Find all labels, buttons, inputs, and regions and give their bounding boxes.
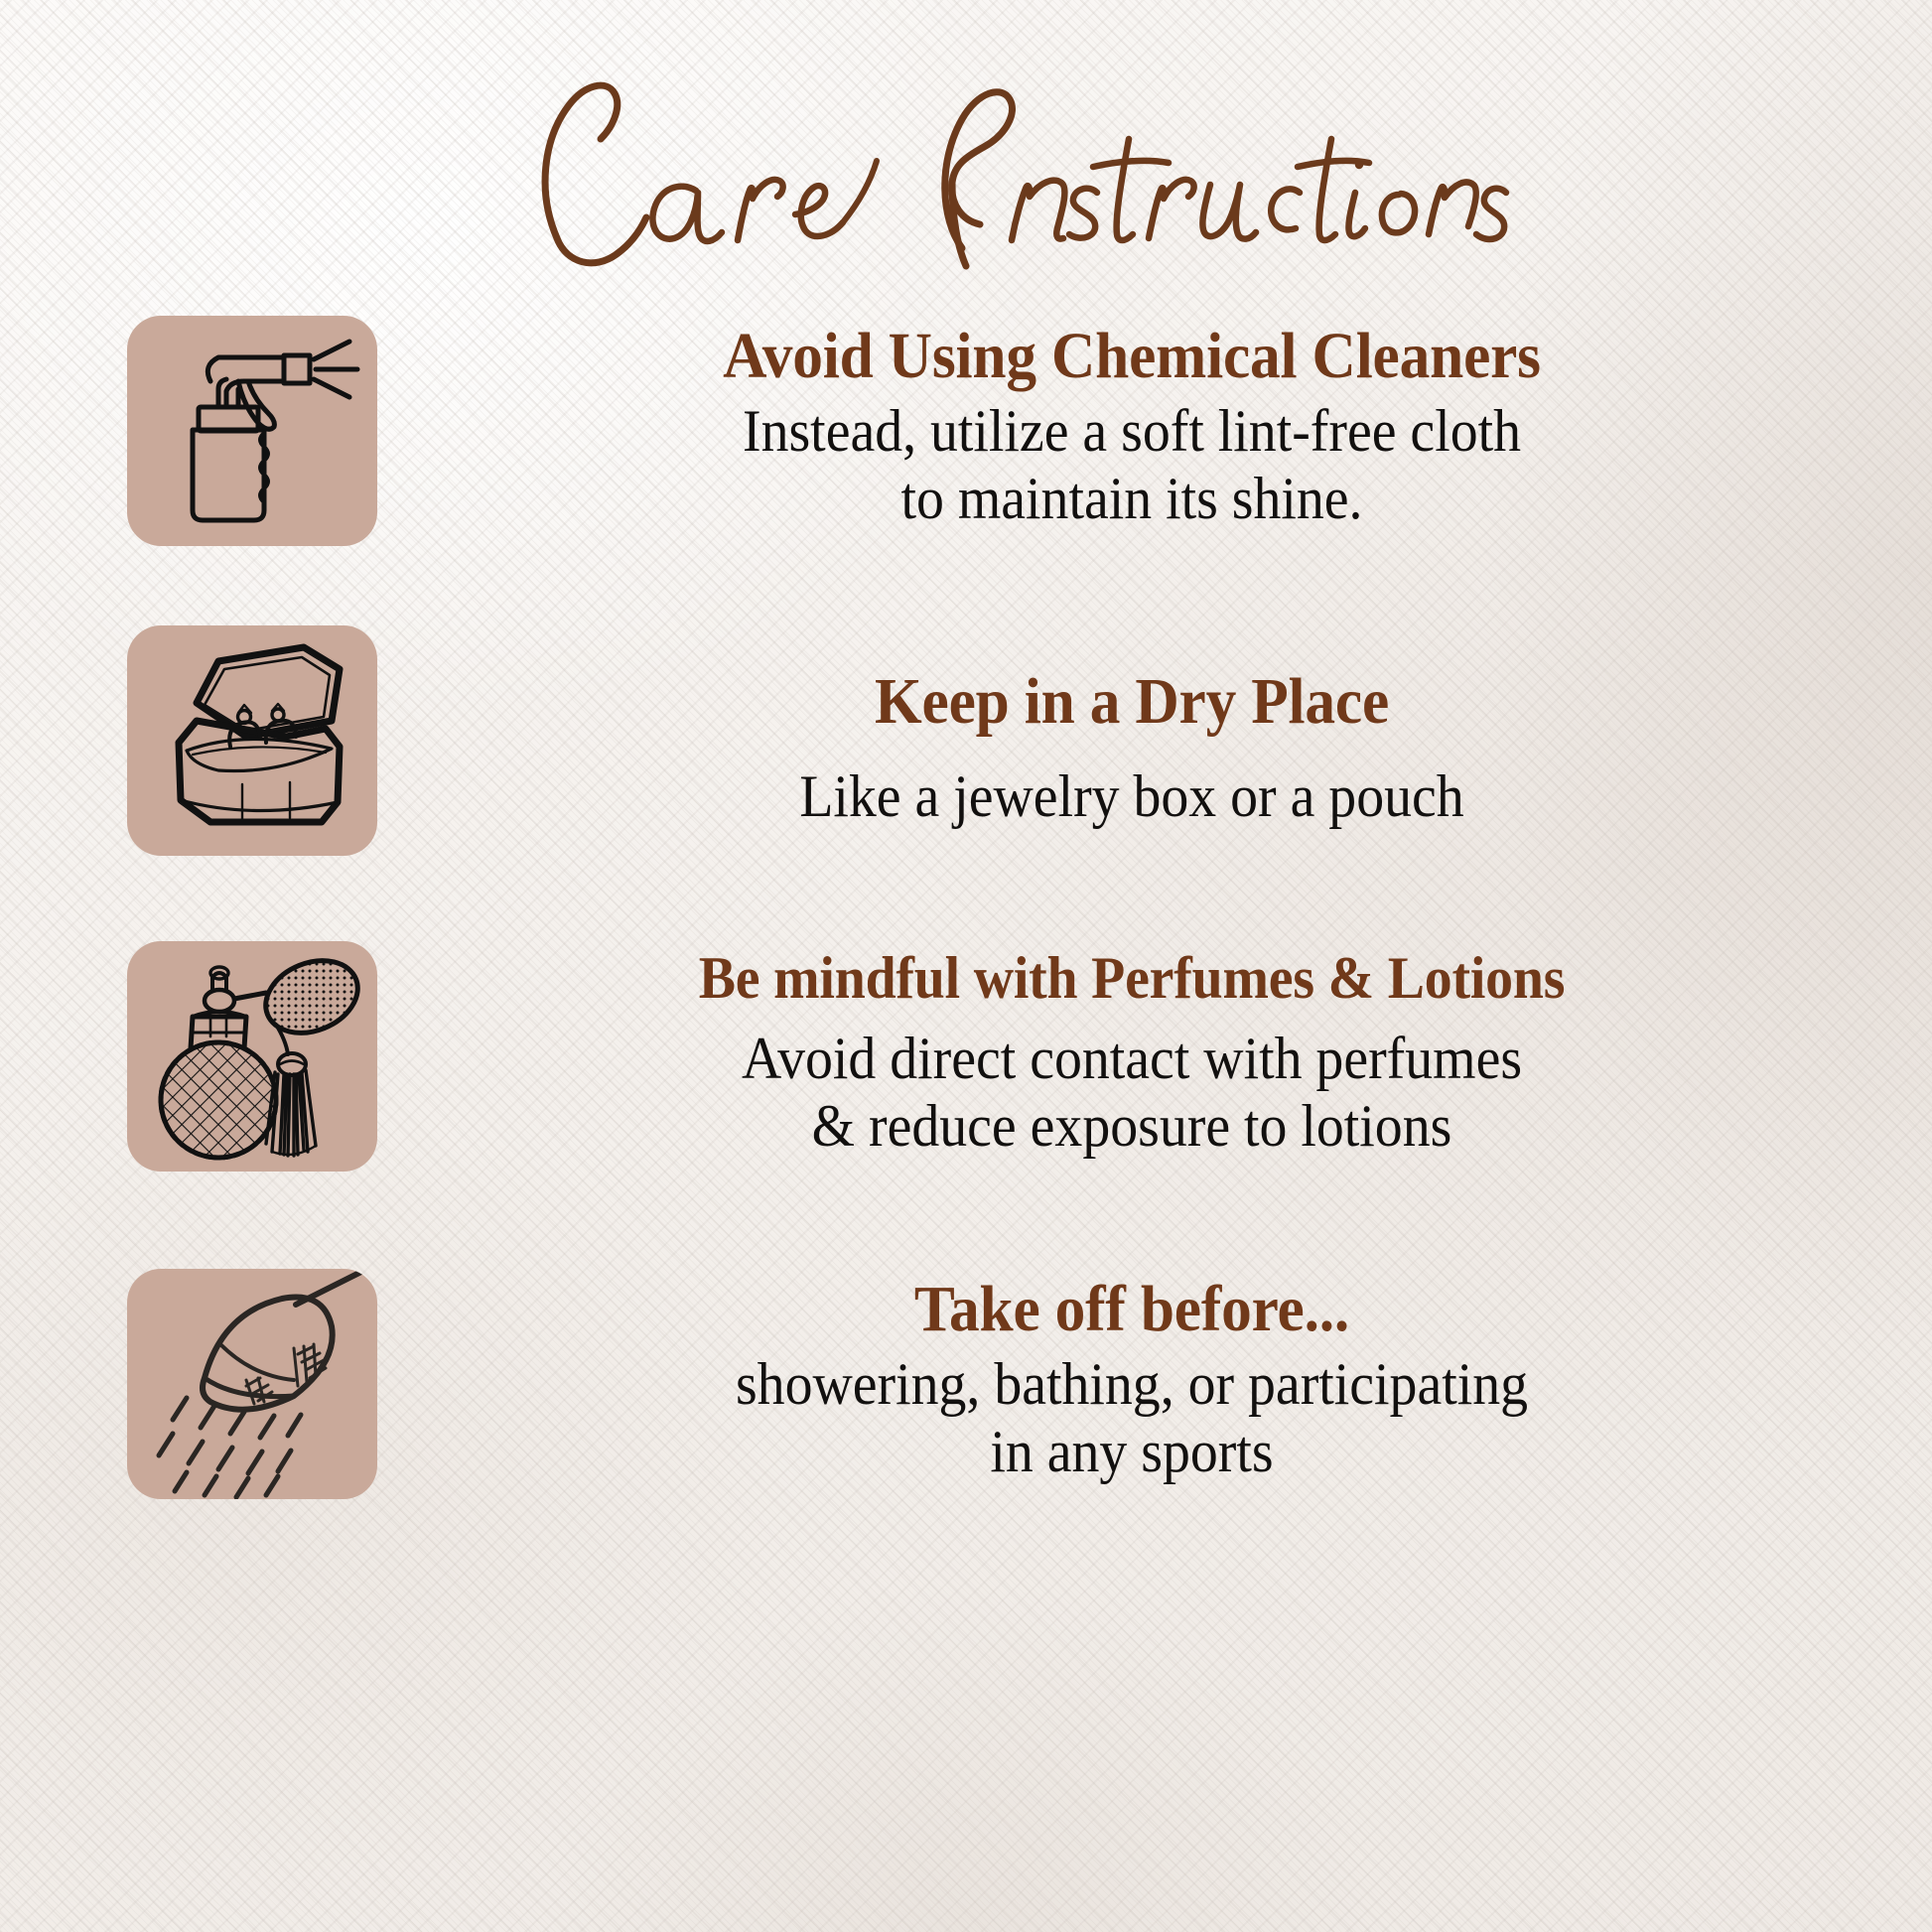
page-title <box>0 44 1932 292</box>
instruction-row: Take off before... showering, bathing, o… <box>0 1269 1932 1499</box>
instruction-heading: Be mindful with Perfumes & Lotions <box>453 947 1812 1011</box>
icon-tile-jewelry-box <box>127 625 377 856</box>
body-line: Avoid direct contact with perfumes <box>453 1025 1812 1092</box>
care-instructions-page: Avoid Using Chemical Cleaners Instead, u… <box>0 0 1932 1932</box>
body-line: Instead, utilize a soft lint-free cloth <box>453 397 1812 465</box>
body-line: showering, bathing, or participating <box>453 1350 1812 1418</box>
instruction-body: showering, bathing, or participating in … <box>453 1350 1812 1486</box>
instruction-copy: Keep in a Dry Place Like a jewelry box o… <box>401 625 1863 830</box>
spray-bottle-icon <box>127 316 377 546</box>
instruction-row: Keep in a Dry Place Like a jewelry box o… <box>0 625 1932 856</box>
instruction-copy: Be mindful with Perfumes & Lotions Avoid… <box>401 941 1863 1160</box>
jewelry-box-icon <box>127 625 377 856</box>
instruction-row: Be mindful with Perfumes & Lotions Avoid… <box>0 941 1932 1172</box>
perfume-bottle-icon <box>127 941 377 1172</box>
icon-tile-shower-head <box>127 1269 377 1499</box>
shower-head-icon <box>127 1269 377 1499</box>
instruction-body: Avoid direct contact with perfumes & red… <box>453 1025 1812 1161</box>
instruction-heading: Take off before... <box>453 1275 1812 1344</box>
instruction-heading: Avoid Using Chemical Cleaners <box>453 322 1812 391</box>
body-line: in any sports <box>453 1418 1812 1485</box>
instruction-body: Instead, utilize a soft lint-free cloth … <box>453 397 1812 533</box>
instruction-heading: Keep in a Dry Place <box>453 667 1812 737</box>
icon-tile-spray-bottle <box>127 316 377 546</box>
body-line: & reduce exposure to lotions <box>453 1092 1812 1160</box>
instruction-copy: Avoid Using Chemical Cleaners Instead, u… <box>401 316 1863 533</box>
instruction-body: Like a jewelry box or a pouch <box>453 762 1812 830</box>
instruction-copy: Take off before... showering, bathing, o… <box>401 1269 1863 1486</box>
instruction-row: Avoid Using Chemical Cleaners Instead, u… <box>0 316 1932 546</box>
title-script-lettering <box>410 44 1522 292</box>
icon-tile-perfume-bottle <box>127 941 377 1172</box>
body-line: Like a jewelry box or a pouch <box>453 762 1812 830</box>
body-line: to maintain its shine. <box>453 465 1812 532</box>
